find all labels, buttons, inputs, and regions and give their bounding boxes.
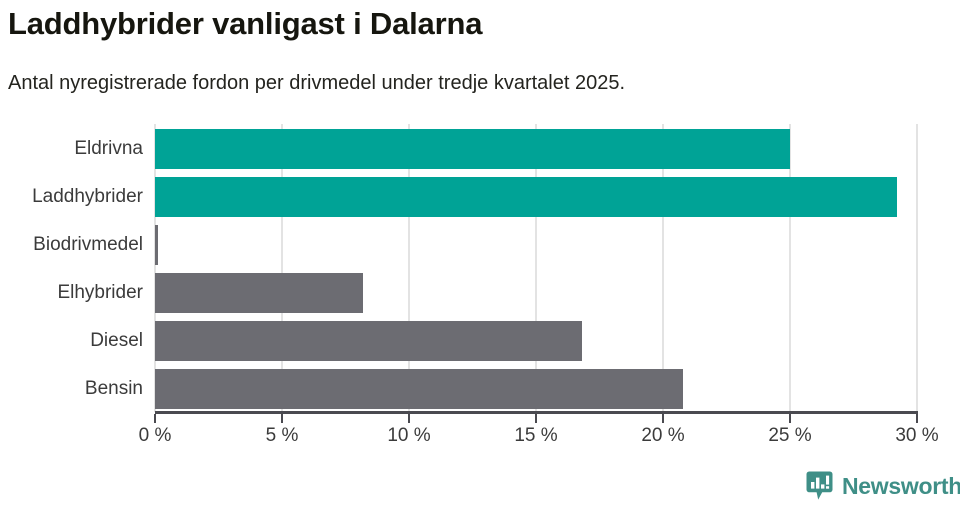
x-tick-label-15: 15 % xyxy=(514,424,557,448)
bar-biodrivmedel[interactable] xyxy=(155,225,158,265)
x-tick-label-30: 30 % xyxy=(895,424,938,448)
newsworthy-logo: Newsworthy xyxy=(806,471,960,501)
bar-series xyxy=(155,124,917,412)
bar-row xyxy=(155,129,917,169)
y-axis-label-eldrivna: Eldrivna xyxy=(0,129,143,169)
x-tick-label-0: 0 % xyxy=(139,424,172,448)
chart-container: Laddhybrider vanligast i Dalarna Antal n… xyxy=(0,0,960,505)
x-tick-30 xyxy=(916,414,918,423)
y-axis-labels: EldrivnaLaddhybriderBiodrivmedelElhybrid… xyxy=(0,124,143,412)
x-tick-label-5: 5 % xyxy=(266,424,299,448)
x-tick-20 xyxy=(662,414,664,423)
y-axis-label-diesel: Diesel xyxy=(0,321,143,361)
x-tick-label-10: 10 % xyxy=(387,424,430,448)
bar-eldrivna[interactable] xyxy=(155,129,790,169)
bar-row xyxy=(155,321,917,361)
x-axis-ticks xyxy=(155,414,918,424)
bar-row xyxy=(155,369,917,409)
y-axis-label-elhybrider: Elhybrider xyxy=(0,273,143,313)
chart-title: Laddhybrider vanligast i Dalarna xyxy=(8,6,948,42)
x-tick-label-20: 20 % xyxy=(641,424,684,448)
y-axis-label-biodrivmedel: Biodrivmedel xyxy=(0,225,143,265)
newsworthy-bars-bubble-icon xyxy=(806,471,833,501)
bar-row xyxy=(155,225,917,265)
bar-row xyxy=(155,273,917,313)
plot-area xyxy=(155,124,917,412)
y-axis-label-laddhybrider: Laddhybrider xyxy=(0,177,143,217)
x-axis-tick-labels: 0 %5 %10 %15 %20 %25 %30 % xyxy=(0,424,960,452)
x-tick-10 xyxy=(408,414,410,423)
newsworthy-wordmark: Newsworthy xyxy=(842,475,960,498)
x-tick-5 xyxy=(281,414,283,423)
bar-row xyxy=(155,177,917,217)
bar-bensin[interactable] xyxy=(155,369,683,409)
chart-subtitle: Antal nyregistrerade fordon per drivmede… xyxy=(8,70,948,96)
x-tick-label-25: 25 % xyxy=(768,424,811,448)
bar-laddhybrider[interactable] xyxy=(155,177,897,217)
x-tick-15 xyxy=(535,414,537,423)
x-tick-25 xyxy=(789,414,791,423)
bar-diesel[interactable] xyxy=(155,321,582,361)
bar-elhybrider[interactable] xyxy=(155,273,363,313)
y-axis-label-bensin: Bensin xyxy=(0,369,143,409)
x-tick-0 xyxy=(154,414,156,423)
